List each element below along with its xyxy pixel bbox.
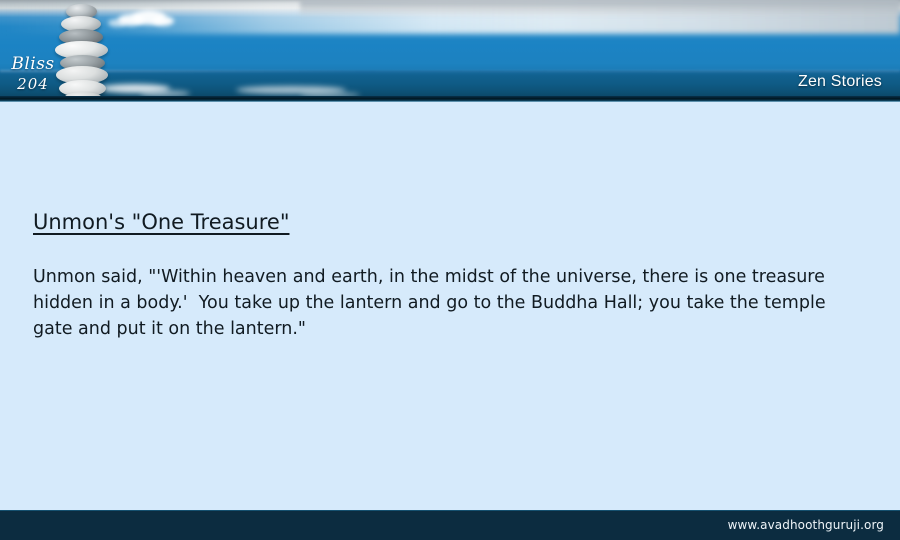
logo-bliss: Bliss 204 <box>8 56 58 92</box>
banner-bottom-edge <box>0 96 900 102</box>
horizon-line <box>0 70 900 72</box>
banner-title: Zen Stories <box>798 73 882 91</box>
cloud-haze-band-upper <box>300 0 900 16</box>
story-title: Unmon's "One Treasure" <box>33 210 289 234</box>
logo-number: 204 <box>8 77 58 92</box>
footer-bar: www.avadhoothguruji.org <box>0 510 900 540</box>
footer-website-url[interactable]: www.avadhoothguruji.org <box>728 518 884 532</box>
logo-word: Bliss <box>8 56 58 73</box>
zen-stone-stack-icon <box>52 0 114 102</box>
cloud-icon <box>152 16 174 26</box>
slide-content: Unmon's "One Treasure" Unmon said, "'Wit… <box>33 210 873 342</box>
header-banner: Bliss 204 Zen Stories <box>0 0 900 102</box>
slide: Bliss 204 Zen Stories Unmon's "One Treas… <box>0 0 900 540</box>
story-body: Unmon said, "'Within heaven and earth, i… <box>33 264 855 342</box>
